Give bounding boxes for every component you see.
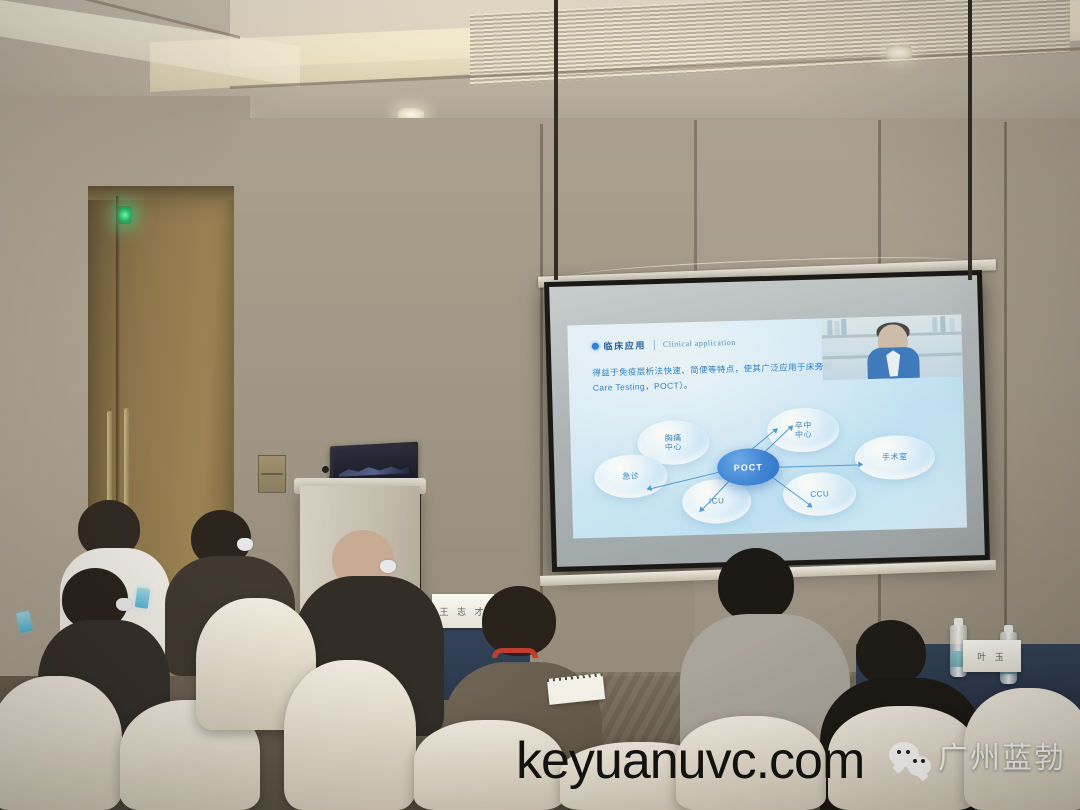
screen-leg-left — [554, 0, 558, 280]
attendee-head — [718, 548, 794, 622]
door-status-indicator — [118, 206, 132, 224]
video-call-overlay — [821, 315, 964, 381]
slide-header-cn: 临床应用 — [603, 338, 646, 352]
name-card-right: 叶 玉 — [963, 640, 1021, 672]
poct-diagram: 胸痛 中心 卒中 中心 手术室 CCU ICU 急诊 POCT — [586, 409, 951, 534]
book — [932, 317, 937, 332]
arrow-to-operating-room — [775, 464, 862, 467]
wall-outlet-plate — [258, 455, 286, 493]
downlight-3 — [886, 46, 912, 59]
watermark-site: keyuanuvc.com — [516, 735, 864, 787]
attendee-head — [482, 586, 556, 656]
book — [827, 320, 832, 335]
watermark-account: 广州蓝勃 — [889, 742, 1066, 776]
lanyard — [492, 648, 538, 658]
wechat-eye-4 — [921, 759, 925, 763]
projection-screen: 临床应用 Clinical application 得益于免疫层析法快速、简便等… — [548, 268, 986, 578]
screen-leg-right — [968, 0, 972, 280]
watermark-account-name: 广州蓝勃 — [938, 744, 1066, 774]
presentation-slide: 临床应用 Clinical application 得益于免疫层析法快速、简便等… — [567, 315, 967, 539]
face-mask — [237, 538, 253, 551]
wechat-eye-3 — [913, 759, 917, 763]
node-operating-room: 手术室 — [854, 434, 935, 480]
node-emergency: 急诊 — [594, 453, 668, 499]
screen-surface: 临床应用 Clinical application 得益于免疫层析法快速、简便等… — [549, 275, 985, 567]
laptop-screen-content — [339, 463, 409, 477]
book — [834, 321, 839, 335]
poct-hub: POCT — [717, 448, 780, 486]
face-mask — [116, 598, 132, 611]
mic-head-left — [322, 466, 329, 473]
screenshot-root: 临床应用 Clinical application 得益于免疫层析法快速、简便等… — [0, 0, 1080, 810]
face-mask — [380, 560, 396, 573]
wall-seam-1 — [540, 124, 543, 644]
chair[interactable] — [0, 676, 122, 810]
slide-header-en: Clinical application — [663, 338, 736, 349]
book — [949, 317, 954, 332]
wechat-bubble-small — [907, 756, 931, 776]
attendee-head — [856, 620, 926, 686]
door-header — [88, 186, 234, 200]
wall-seam-4 — [1004, 122, 1007, 642]
header-divider — [654, 340, 655, 350]
bullet-dot-icon — [591, 343, 598, 350]
wechat-eye-2 — [906, 750, 910, 754]
screen-frame: 临床应用 Clinical application 得益于免疫层析法快速、简便等… — [544, 270, 990, 572]
wechat-eye-1 — [897, 750, 901, 754]
chair[interactable] — [284, 660, 416, 810]
book — [841, 319, 846, 335]
node-icu: ICU — [682, 479, 752, 525]
wechat-icon — [889, 742, 931, 776]
book — [940, 316, 945, 333]
smartphone-second[interactable] — [135, 587, 151, 609]
